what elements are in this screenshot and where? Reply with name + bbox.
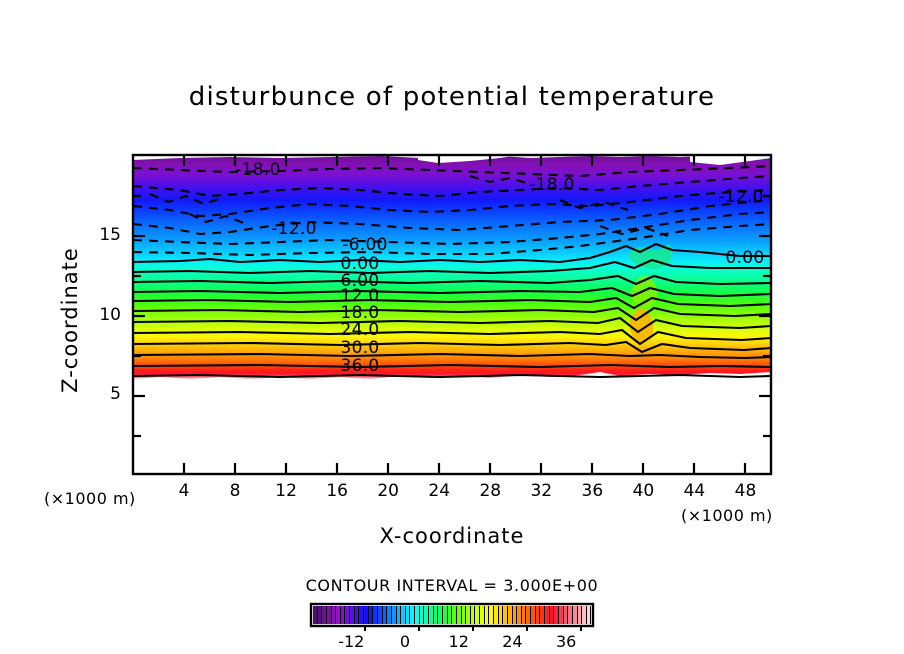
colorbar-tick-label: 0 bbox=[400, 632, 410, 651]
x-tick-label: 40 bbox=[633, 481, 655, 501]
x-tick-label: 12 bbox=[275, 481, 297, 501]
contour-label: -18.0 bbox=[529, 175, 575, 195]
colorbar-tick-label: 24 bbox=[502, 632, 522, 651]
x-tick-label: 8 bbox=[230, 481, 241, 501]
x-tick-label: 48 bbox=[735, 481, 757, 501]
y-tick-label: 5 bbox=[81, 384, 121, 404]
colorbar bbox=[313, 606, 591, 624]
y-tick-label: 10 bbox=[81, 305, 121, 325]
contour-label: -12.0 bbox=[718, 187, 764, 207]
y-tick-label: 15 bbox=[81, 225, 121, 245]
colorbar-tick-label: -12 bbox=[338, 632, 364, 651]
colorbar-swatch bbox=[587, 606, 592, 624]
colorbar-tick-label: 36 bbox=[556, 632, 576, 651]
contour-label: 0.00 bbox=[725, 248, 764, 268]
colorbar-tick-label: 12 bbox=[449, 632, 469, 651]
figure-canvas: disturbunce of potential temperature Z-c… bbox=[0, 0, 904, 654]
contour-label: -18.0 bbox=[235, 160, 281, 180]
contour-label: 30.0 bbox=[340, 338, 379, 358]
contour-label: -12.0 bbox=[271, 219, 317, 239]
contour-label: 24.0 bbox=[340, 320, 379, 340]
contour-label: 36.0 bbox=[340, 356, 379, 376]
x-tick-label: 28 bbox=[479, 481, 501, 501]
x-tick-label: 44 bbox=[684, 481, 706, 501]
x-tick-label: 24 bbox=[428, 481, 450, 501]
x-tick-label: 4 bbox=[179, 481, 190, 501]
x-tick-label: 36 bbox=[582, 481, 604, 501]
contour-plot bbox=[0, 0, 904, 654]
x-tick-label: 20 bbox=[377, 481, 399, 501]
contour-label: -6.00 bbox=[342, 235, 388, 255]
x-tick-label: 32 bbox=[530, 481, 552, 501]
x-tick-label: 16 bbox=[326, 481, 348, 501]
contour-field bbox=[133, 155, 771, 379]
